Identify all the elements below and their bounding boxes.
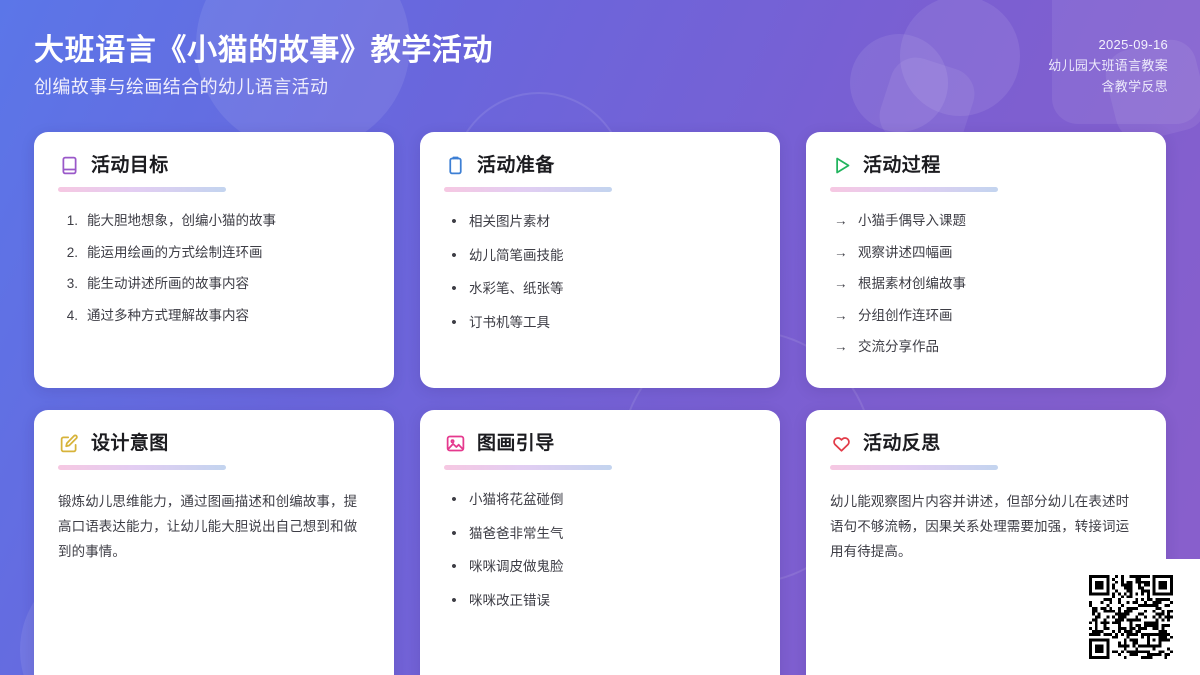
list-marker: • <box>448 313 460 333</box>
list-marker: • <box>448 524 460 544</box>
card-body: • 小猫将花盆碰倒 • 猫爸爸非常生气 • 咪咪调皮做鬼脸 • 咪咪改正错误 <box>444 490 756 610</box>
book-icon <box>58 154 80 176</box>
list-marker: 4. <box>62 307 78 325</box>
card-title: 活动准备 <box>477 156 555 175</box>
arrow-marker-icon: → <box>834 275 849 293</box>
list-item: 3. 能生动讲述所画的故事内容 <box>62 275 370 293</box>
list-item-label: 小猫将花盆碰倒 <box>469 491 756 509</box>
list-item: • 小猫将花盆碰倒 <box>448 490 756 510</box>
meta-note: 含教学反思 <box>1101 79 1168 95</box>
list-item: 4. 通过多种方式理解故事内容 <box>62 307 370 325</box>
title-underline <box>58 187 226 192</box>
title-underline <box>444 465 612 470</box>
meta-date: 2025-09-16 <box>1099 37 1169 53</box>
card-grid: 活动目标 1. 能大胆地想象，创编小猫的故事 2. 能运用绘画的方式绘制连环画 … <box>0 132 1200 675</box>
list-item-label: 订书机等工具 <box>469 314 756 332</box>
card-title: 活动目标 <box>91 156 169 175</box>
card-title: 活动反思 <box>863 434 941 453</box>
process-list: → 小猫手偶导入课题 → 观察讲述四幅画 → 根据素材创编故事 → 分组创作连环… <box>830 212 1142 356</box>
card-title: 活动过程 <box>863 156 941 175</box>
objectives-list: 1. 能大胆地想象，创编小猫的故事 2. 能运用绘画的方式绘制连环画 3. 能生… <box>58 212 370 324</box>
list-item: • 咪咪改正错误 <box>448 591 756 611</box>
card-header: 活动准备 <box>444 154 756 176</box>
list-item: → 交流分享作品 <box>834 338 1142 356</box>
list-item-label: 咪咪改正错误 <box>469 592 756 610</box>
card-design-intent: 设计意图 锻炼幼儿思维能力，通过图画描述和创编故事，提高口语表达能力，让幼儿能大… <box>34 410 394 675</box>
edit-pencil-icon <box>58 432 80 454</box>
list-item-label: 交流分享作品 <box>858 338 1142 356</box>
list-item-label: 幼儿简笔画技能 <box>469 247 756 265</box>
list-marker: 3. <box>62 275 78 293</box>
list-item-label: 能大胆地想象，创编小猫的故事 <box>87 212 370 230</box>
poster-header: 大班语言《小猫的故事》教学活动 创编故事与绘画结合的幼儿语言活动 2025-09… <box>0 0 1200 132</box>
list-marker: 2. <box>62 244 78 262</box>
card-header: 设计意图 <box>58 432 370 454</box>
list-item: → 根据素材创编故事 <box>834 275 1142 293</box>
page-title: 大班语言《小猫的故事》教学活动 <box>34 34 493 68</box>
list-item-label: 相关图片素材 <box>469 213 756 231</box>
card-title: 设计意图 <box>91 434 169 453</box>
list-item: → 观察讲述四幅画 <box>834 244 1142 262</box>
title-underline <box>830 187 998 192</box>
list-item-label: 小猫手偶导入课题 <box>858 212 1142 230</box>
header-meta: 2025-09-16 幼儿园大班语言教案 含教学反思 <box>1048 37 1168 96</box>
list-item: 1. 能大胆地想象，创编小猫的故事 <box>62 212 370 230</box>
card-body: → 小猫手偶导入课题 → 观察讲述四幅画 → 根据素材创编故事 → 分组创作连环… <box>830 212 1142 356</box>
list-item: → 小猫手偶导入课题 <box>834 212 1142 230</box>
list-item-label: 根据素材创编故事 <box>858 275 1142 293</box>
list-marker: • <box>448 212 460 232</box>
list-item: 2. 能运用绘画的方式绘制连环画 <box>62 244 370 262</box>
card-body: 锻炼幼儿思维能力，通过图画描述和创编故事，提高口语表达能力，让幼儿能大胆说出自己… <box>58 490 370 565</box>
list-item: • 咪咪调皮做鬼脸 <box>448 557 756 577</box>
arrow-marker-icon: → <box>834 307 849 325</box>
list-item-label: 分组创作连环画 <box>858 307 1142 325</box>
card-objectives: 活动目标 1. 能大胆地想象，创编小猫的故事 2. 能运用绘画的方式绘制连环画 … <box>34 132 394 388</box>
list-item: → 分组创作连环画 <box>834 307 1142 325</box>
heart-icon <box>830 432 852 454</box>
design-intent-paragraph: 锻炼幼儿思维能力，通过图画描述和创编故事，提高口语表达能力，让幼儿能大胆说出自己… <box>58 490 370 565</box>
image-icon <box>444 432 466 454</box>
list-marker: 1. <box>62 212 78 230</box>
qr-code <box>1089 575 1173 659</box>
title-underline <box>444 187 612 192</box>
list-marker: • <box>448 557 460 577</box>
card-picture-guide: 图画引导 • 小猫将花盆碰倒 • 猫爸爸非常生气 • 咪咪调皮做鬼脸 <box>420 410 780 675</box>
arrow-marker-icon: → <box>834 338 849 356</box>
list-marker: • <box>448 591 460 611</box>
list-item-label: 猫爸爸非常生气 <box>469 525 756 543</box>
card-body: 幼儿能观察图片内容并讲述，但部分幼儿在表述时语句不够流畅，因果关系处理需要加强，… <box>830 490 1142 565</box>
list-item-label: 能运用绘画的方式绘制连环画 <box>87 244 370 262</box>
list-item-label: 水彩笔、纸张等 <box>469 280 756 298</box>
list-item-label: 观察讲述四幅画 <box>858 244 1142 262</box>
reflection-paragraph: 幼儿能观察图片内容并讲述，但部分幼儿在表述时语句不够流畅，因果关系处理需要加强，… <box>830 490 1142 565</box>
title-underline <box>58 465 226 470</box>
card-header: 活动目标 <box>58 154 370 176</box>
preparation-list: • 相关图片素材 • 幼儿简笔画技能 • 水彩笔、纸张等 • 订书机等工具 <box>444 212 756 332</box>
list-marker: • <box>448 490 460 510</box>
picture-guide-list: • 小猫将花盆碰倒 • 猫爸爸非常生气 • 咪咪调皮做鬼脸 • 咪咪改正错误 <box>444 490 756 610</box>
arrow-marker-icon: → <box>834 212 849 230</box>
meta-category: 幼儿园大班语言教案 <box>1048 58 1168 74</box>
list-item: • 订书机等工具 <box>448 313 756 333</box>
play-triangle-icon <box>830 154 852 176</box>
list-marker: • <box>448 279 460 299</box>
list-item-label: 通过多种方式理解故事内容 <box>87 307 370 325</box>
card-process: 活动过程 → 小猫手偶导入课题 → 观察讲述四幅画 → 根据素材创编故事 <box>806 132 1166 388</box>
card-body: 1. 能大胆地想象，创编小猫的故事 2. 能运用绘画的方式绘制连环画 3. 能生… <box>58 212 370 324</box>
title-underline <box>830 465 998 470</box>
arrow-marker-icon: → <box>834 244 849 262</box>
card-header: 图画引导 <box>444 432 756 454</box>
card-header: 活动过程 <box>830 154 1142 176</box>
header-left: 大班语言《小猫的故事》教学活动 创编故事与绘画结合的幼儿语言活动 <box>34 34 493 97</box>
list-item: • 相关图片素材 <box>448 212 756 232</box>
clipboard-icon <box>444 154 466 176</box>
card-header: 活动反思 <box>830 432 1142 454</box>
qr-panel <box>1061 559 1200 675</box>
list-item-label: 咪咪调皮做鬼脸 <box>469 558 756 576</box>
list-marker: • <box>448 246 460 266</box>
card-title: 图画引导 <box>477 434 555 453</box>
list-item-label: 能生动讲述所画的故事内容 <box>87 275 370 293</box>
card-preparation: 活动准备 • 相关图片素材 • 幼儿简笔画技能 • 水彩笔、纸张等 <box>420 132 780 388</box>
list-item: • 水彩笔、纸张等 <box>448 279 756 299</box>
list-item: • 幼儿简笔画技能 <box>448 246 756 266</box>
page-subtitle: 创编故事与绘画结合的幼儿语言活动 <box>34 77 493 98</box>
poster-root: 大班语言《小猫的故事》教学活动 创编故事与绘画结合的幼儿语言活动 2025-09… <box>0 0 1200 675</box>
card-body: • 相关图片素材 • 幼儿简笔画技能 • 水彩笔、纸张等 • 订书机等工具 <box>444 212 756 332</box>
list-item: • 猫爸爸非常生气 <box>448 524 756 544</box>
